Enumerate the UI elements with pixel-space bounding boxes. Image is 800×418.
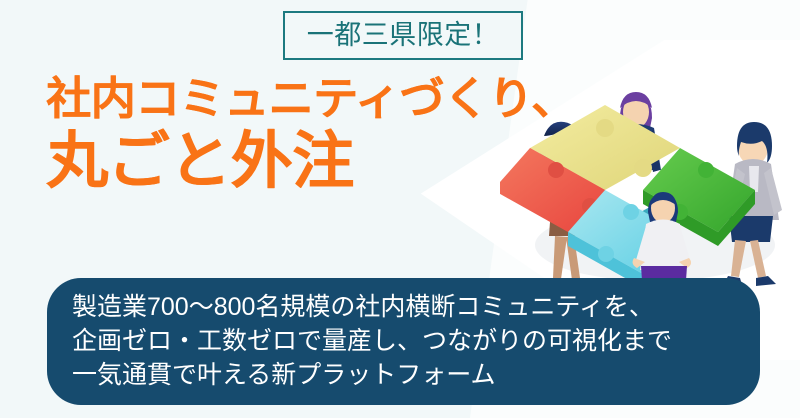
region-limit-badge-label: 一都三県限定！: [307, 22, 500, 49]
headline-line-1: 社内コミュニティづくり、: [46, 74, 576, 124]
headline: 社内コミュニティづくり、 丸ごと外注: [46, 74, 576, 197]
promo-banner: 一都三県限定！ 社内コミュニティづくり、 丸ごと外注: [0, 0, 800, 418]
region-limit-badge: 一都三県限定！: [283, 11, 523, 60]
description-line-3: 一気通貫で叶える新プラットフォーム: [72, 358, 760, 392]
description-box: 製造業700〜800名規模の社内横断コミュニティを、 企画ゼロ・工数ゼロで量産し…: [47, 278, 760, 405]
description-line-1: 製造業700〜800名規模の社内横断コミュニティを、: [72, 290, 760, 324]
description-line-2: 企画ゼロ・工数ゼロで量産し、つながりの可視化まで: [72, 324, 760, 358]
headline-line-2: 丸ごと外注: [46, 128, 576, 196]
